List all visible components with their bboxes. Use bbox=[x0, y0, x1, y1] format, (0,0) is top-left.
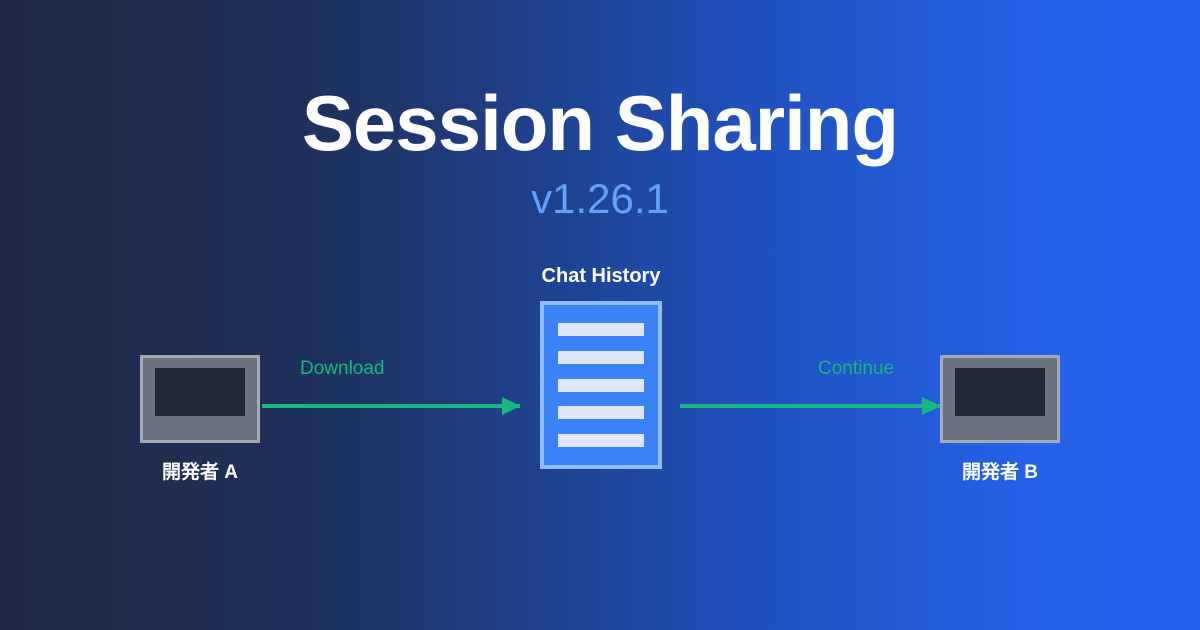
arrow-download: Download bbox=[262, 396, 520, 416]
computer-icon bbox=[140, 355, 260, 443]
arrow-label-download: Download bbox=[300, 358, 385, 380]
arrow-head-icon bbox=[922, 397, 941, 415]
session-sharing-banner: Session Sharing v1.26.1 開発者 A Download C… bbox=[0, 0, 1200, 630]
node-label-chat-history: Chat History bbox=[540, 265, 662, 288]
computer-screen-icon bbox=[955, 368, 1045, 416]
arrow-shaft bbox=[262, 404, 520, 408]
document-icon bbox=[540, 301, 662, 469]
node-chat-history: Chat History bbox=[540, 265, 662, 469]
version-label: v1.26.1 bbox=[0, 178, 1200, 220]
document-line bbox=[558, 434, 644, 447]
session-sharing-diagram: 開発者 A Download Chat History Continue bbox=[0, 265, 1200, 505]
node-developer-a: 開発者 A bbox=[140, 355, 260, 484]
arrow-label-continue: Continue bbox=[818, 358, 894, 380]
document-line bbox=[558, 406, 644, 419]
arrow-shaft bbox=[680, 404, 940, 408]
arrow-head-icon bbox=[502, 397, 521, 415]
banner-header: Session Sharing v1.26.1 bbox=[0, 84, 1200, 220]
node-label-developer-a: 開発者 A bbox=[140, 457, 260, 484]
document-line bbox=[558, 351, 644, 364]
node-developer-b: 開発者 B bbox=[940, 355, 1060, 484]
arrow-continue: Continue bbox=[680, 396, 940, 416]
document-line bbox=[558, 379, 644, 392]
computer-screen-icon bbox=[155, 368, 245, 416]
page-title: Session Sharing bbox=[0, 84, 1200, 162]
document-line bbox=[558, 323, 644, 336]
node-label-developer-b: 開発者 B bbox=[940, 457, 1060, 484]
computer-icon bbox=[940, 355, 1060, 443]
